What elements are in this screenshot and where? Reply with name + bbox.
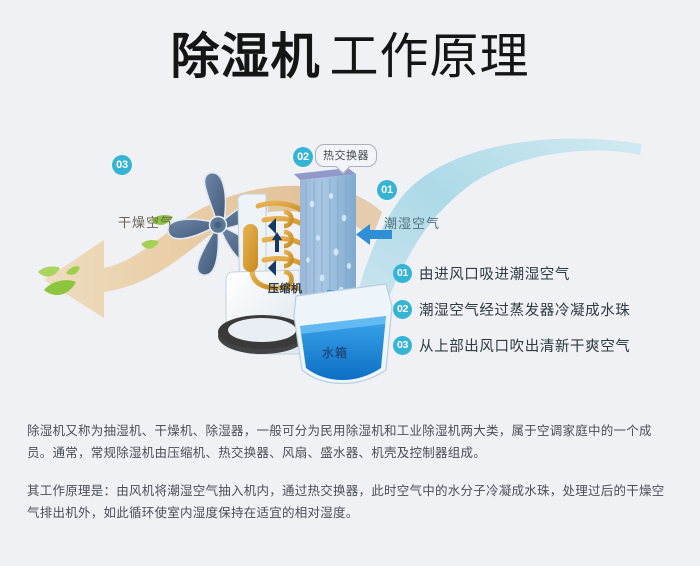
page-root: 除湿机工作原理	[0, 0, 700, 566]
paragraph-2: 其工作原理是：由风机将潮湿空气抽入机内，通过热交换器，此时空气中的水分子冷凝成水…	[27, 480, 677, 524]
label-compressor: 压缩机	[268, 280, 303, 296]
paragraph-1: 除湿机又称为抽湿机、干燥机、除湿器，一般可分为民用除湿机和工业除湿机两大类，属于…	[27, 420, 677, 464]
step-item-02: 02 潮湿空气经过蒸发器冷凝成水珠	[393, 291, 693, 327]
step-item-03: 03 从上部出风口吹出清新干爽空气	[393, 327, 693, 363]
water-tank	[294, 284, 392, 384]
step-text-03: 从上部出风口吹出清新干爽空气	[419, 335, 630, 356]
step-badge-02: 02	[393, 300, 412, 319]
step-text-02: 潮湿空气经过蒸发器冷凝成水珠	[419, 299, 630, 320]
diagram-badge-02: 02	[293, 147, 313, 167]
label-humid-air: 潮湿空气	[384, 213, 440, 232]
diagram-badge-03: 03	[112, 155, 132, 175]
diagram-badge-01: 01	[377, 180, 397, 200]
label-water-tank: 水箱	[322, 344, 348, 361]
page-title: 除湿机工作原理	[0, 33, 700, 82]
step-badge-01: 01	[393, 264, 412, 283]
body-copy: 除湿机又称为抽湿机、干燥机、除湿器，一般可分为民用除湿机和工业除湿机两大类，属于…	[27, 420, 677, 524]
steps-list: 01 由进风口吸进潮湿空气 02 潮湿空气经过蒸发器冷凝成水珠 03 从上部出风…	[393, 255, 693, 363]
heat-exchanger-callout: 热交换器	[315, 144, 377, 167]
label-dry-air: 干燥空气	[118, 212, 174, 231]
evaporator-block	[294, 168, 356, 308]
coil-accumulator	[243, 224, 258, 272]
step-text-01: 由进风口吸进潮湿空气	[419, 263, 570, 284]
step-item-01: 01 由进风口吸进潮湿空气	[393, 255, 693, 291]
page-title-bold: 除湿机	[170, 30, 320, 84]
step-badge-03: 03	[393, 336, 412, 355]
page-title-light: 工作原理	[330, 30, 530, 84]
